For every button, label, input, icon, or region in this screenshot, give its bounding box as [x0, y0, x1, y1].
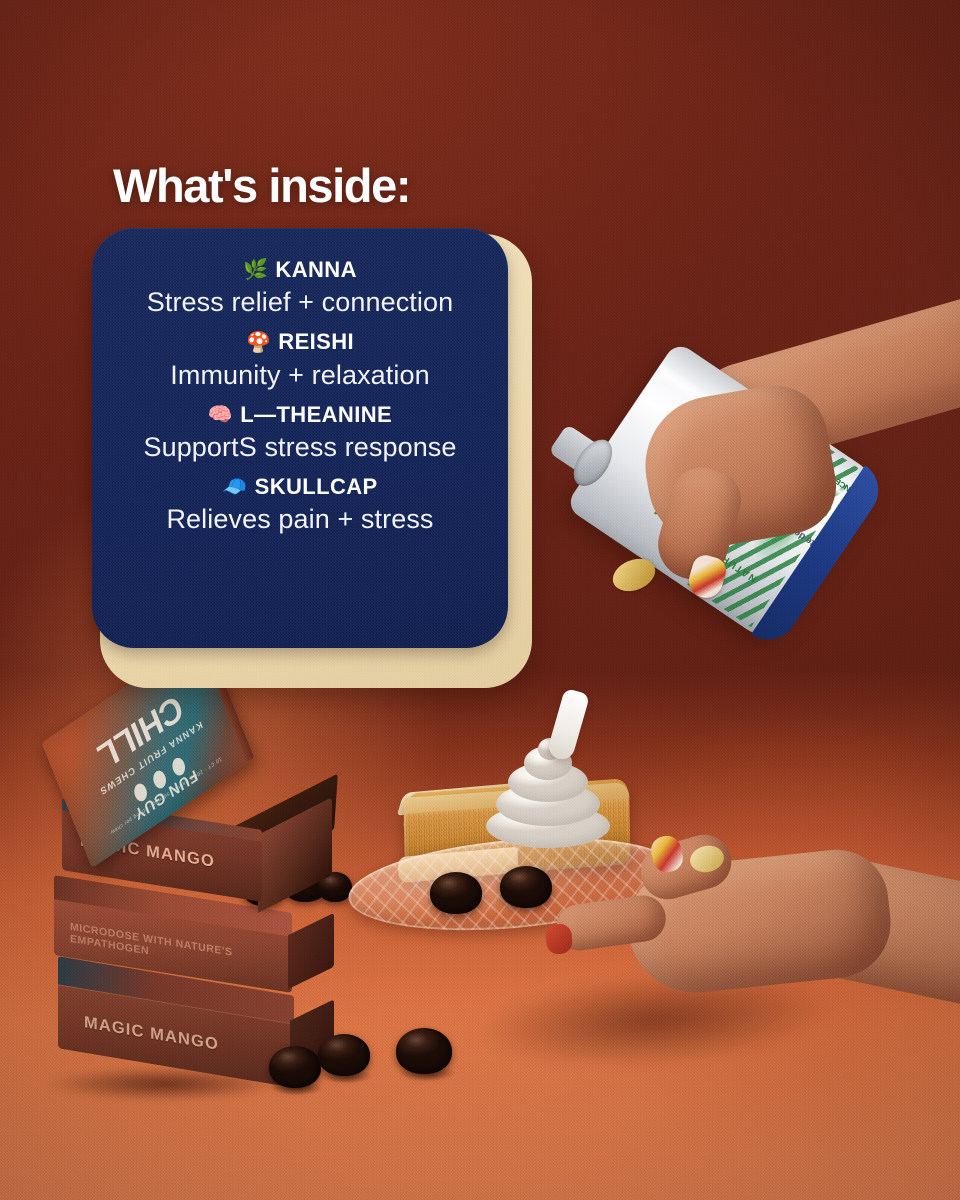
ingredient-heading: 🌿 KANNA	[114, 258, 486, 282]
ingredient-list: 🌿 KANNA Stress relief + connection 🍄 REI…	[92, 228, 508, 555]
ingredient-name: L—THEANINE	[240, 403, 392, 427]
ingredient-benefit: Stress relief + connection	[114, 287, 486, 317]
ingredient-name: SKULLCAP	[255, 475, 378, 499]
ingredient-benefit: Relieves pain + stress	[114, 504, 486, 534]
ingredient-heading: 🧠 L—THEANINE	[114, 403, 486, 427]
brain-icon: 🧠	[208, 405, 233, 425]
ingredient-name: KANNA	[275, 258, 356, 282]
vignette	[0, 0, 960, 1200]
ingredient-item-skullcap: 🧢 SKULLCAP Relieves pain + stress	[114, 475, 486, 534]
mushroom-icon: 🍄	[246, 333, 271, 353]
ingredient-benefit: Immunity + relaxation	[114, 360, 486, 390]
ingredient-item-l-theanine: 🧠 L—THEANINE SupportS stress response	[114, 403, 486, 462]
ingredient-item-kanna: 🌿 KANNA Stress relief + connection	[114, 258, 486, 317]
ingredient-benefit: SupportS stress response	[114, 432, 486, 462]
promo-image: MAGIC MANGO MICRODOSE WITH NATURE'S EMPA…	[0, 0, 960, 1200]
ingredient-heading: 🧢 SKULLCAP	[114, 475, 486, 499]
cap-icon: 🧢	[222, 477, 247, 497]
ingredient-item-reishi: 🍄 REISHI Immunity + relaxation	[114, 330, 486, 389]
ingredient-name: REISHI	[278, 330, 354, 354]
ingredient-heading: 🍄 REISHI	[114, 330, 486, 354]
herb-icon: 🌿	[243, 260, 268, 280]
